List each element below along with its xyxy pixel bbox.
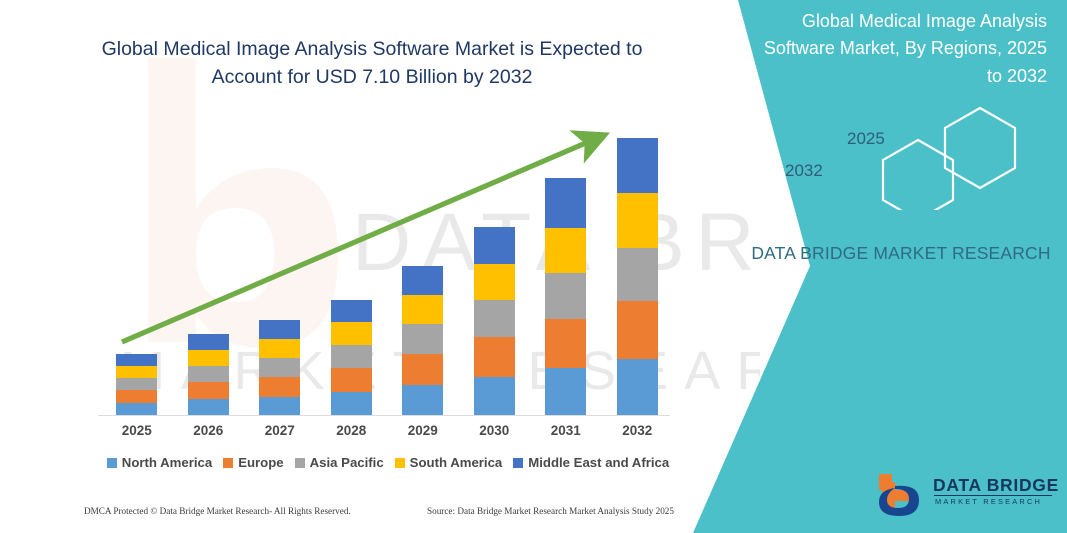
chart-title: Global Medical Image Analysis Software M… xyxy=(98,36,646,91)
bar-segment xyxy=(474,264,515,300)
bar-segment xyxy=(331,345,372,368)
bar-segment xyxy=(545,228,586,273)
bar-segment xyxy=(188,334,229,350)
bar-segment xyxy=(331,322,372,345)
bar-segment xyxy=(116,378,157,390)
hexagon-2032-label: 2032 xyxy=(785,161,823,181)
data-bridge-logo: DATA BRIDGE MARKET RESEARCH xyxy=(875,470,1065,522)
bar-segment xyxy=(188,399,229,416)
brand-name-text: DATA BRIDGE MARKET RESEARCH xyxy=(751,240,1051,266)
legend-item[interactable]: Asia Pacific xyxy=(295,455,384,470)
logo-mark-icon xyxy=(875,470,931,520)
hexagon-2025-label: 2025 xyxy=(847,129,885,149)
x-axis-label-2026: 2026 xyxy=(178,423,238,438)
legend-swatch-icon xyxy=(513,458,523,468)
chart-legend: North AmericaEuropeAsia PacificSouth Ame… xyxy=(98,455,678,470)
footer-source: Source: Data Bridge Market Research Mark… xyxy=(427,506,674,516)
infographic-root: DATA BRIDGE MARKET RESEARCH Global Medic… xyxy=(0,0,1067,533)
bar-segment xyxy=(331,300,372,322)
legend-item[interactable]: South America xyxy=(395,455,503,470)
bar-segment xyxy=(617,359,658,416)
legend-label: North America xyxy=(122,455,212,470)
logo-tagline: MARKET RESEARCH xyxy=(935,497,1042,506)
bar-segment xyxy=(259,358,300,377)
legend-label: South America xyxy=(410,455,503,470)
x-axis-label-2030: 2030 xyxy=(464,423,524,438)
bar-2025[interactable] xyxy=(116,354,157,416)
right-panel-title: Global Medical Image Analysis Software M… xyxy=(745,8,1047,90)
hexagon-2025-shape xyxy=(945,108,1015,188)
legend-item[interactable]: North America xyxy=(107,455,212,470)
bar-segment xyxy=(545,178,586,228)
bar-segment xyxy=(116,390,157,403)
bar-2026[interactable] xyxy=(188,334,229,416)
x-axis-label-2027: 2027 xyxy=(250,423,310,438)
bar-segment xyxy=(545,319,586,368)
bar-segment xyxy=(188,350,229,366)
bar-segment xyxy=(259,320,300,339)
bar-segment xyxy=(617,248,658,301)
bar-segment xyxy=(116,366,157,378)
legend-label: Europe xyxy=(238,455,283,470)
bar-segment xyxy=(474,377,515,416)
legend-swatch-icon xyxy=(107,458,117,468)
bar-segment xyxy=(402,266,443,295)
bar-segment xyxy=(188,382,229,399)
footer-copyright: DMCA Protected © Data Bridge Market Rese… xyxy=(84,506,351,516)
bar-segment xyxy=(402,354,443,385)
legend-swatch-icon xyxy=(395,458,405,468)
x-axis-line xyxy=(98,415,670,416)
bar-segment xyxy=(402,324,443,354)
bar-segment xyxy=(617,193,658,248)
bar-segment xyxy=(617,138,658,193)
bar-segment xyxy=(545,273,586,319)
legend-swatch-icon xyxy=(295,458,305,468)
chart-plot-area xyxy=(98,110,670,416)
bar-segment xyxy=(474,337,515,377)
logo-name: DATA BRIDGE xyxy=(933,475,1059,496)
chart-panel: DATA BRIDGE MARKET RESEARCH Global Medic… xyxy=(0,0,760,533)
bar-segment xyxy=(474,227,515,264)
x-axis-label-2029: 2029 xyxy=(393,423,453,438)
x-axis-labels: 20252026202720282029203020312032 xyxy=(98,423,670,445)
bar-segment xyxy=(474,300,515,337)
bar-segment xyxy=(617,301,658,359)
bar-segment xyxy=(116,354,157,366)
bar-2032[interactable] xyxy=(617,138,658,416)
legend-label: Asia Pacific xyxy=(310,455,384,470)
bar-segment xyxy=(545,368,586,416)
hexagon-2032-shape xyxy=(883,140,953,210)
bar-2031[interactable] xyxy=(545,178,586,416)
footer: DMCA Protected © Data Bridge Market Rese… xyxy=(0,506,760,528)
x-axis-label-2025: 2025 xyxy=(107,423,167,438)
bar-segment xyxy=(331,392,372,416)
bar-segment xyxy=(259,377,300,397)
bar-2030[interactable] xyxy=(474,227,515,416)
bar-segment xyxy=(259,339,300,358)
bar-segment xyxy=(402,385,443,416)
bar-segment xyxy=(331,368,372,392)
legend-label: Middle East and Africa xyxy=(528,455,669,470)
x-axis-label-2032: 2032 xyxy=(607,423,667,438)
hexagon-group xyxy=(815,100,1055,210)
right-panel-content: Global Medical Image Analysis Software M… xyxy=(735,0,1067,533)
x-axis-label-2031: 2031 xyxy=(536,423,596,438)
bar-2029[interactable] xyxy=(402,266,443,416)
bar-segment xyxy=(402,295,443,324)
bar-segment xyxy=(259,397,300,416)
x-axis-label-2028: 2028 xyxy=(321,423,381,438)
legend-item[interactable]: Middle East and Africa xyxy=(513,455,669,470)
bar-2027[interactable] xyxy=(259,320,300,416)
legend-item[interactable]: Europe xyxy=(223,455,283,470)
legend-swatch-icon xyxy=(223,458,233,468)
bar-2028[interactable] xyxy=(331,300,372,416)
logo-divider xyxy=(934,495,1052,496)
bar-segment xyxy=(188,366,229,382)
